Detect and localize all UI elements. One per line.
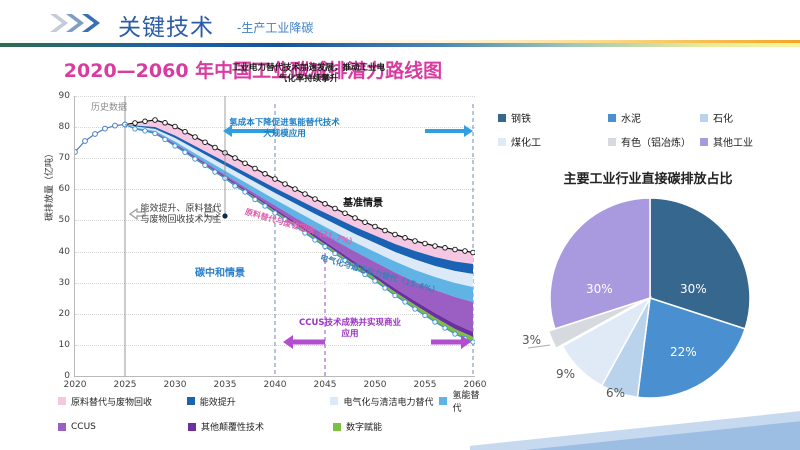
legend-label: 煤化工 [511,134,541,149]
y-tick: 80 [59,122,70,132]
pie-title: 主要工业行业直接碳排放占比 [498,168,798,187]
legend-item-ccus[interactable]: CCUS [58,422,188,432]
y-tick: 30 [59,278,70,288]
legend-label: 钢铁 [511,110,531,125]
chart-plot-area: 90 80 70 60 50 40 30 20 10 0 2020 2025 2… [74,96,475,377]
pie-chart: 30% 22% 6% 9% 3% 30% [528,190,768,405]
legend-item-material[interactable]: 原料替代与废物回收 [58,395,187,408]
legend-swatch-icon [608,114,616,122]
legend-label: 原料替代与废物回收 [71,395,152,408]
pie-value-coalchem: 9% [556,367,575,381]
y-axis-label: 碳排放量（亿吨） [42,149,55,221]
legend-item-digital[interactable]: 数字赋能 [333,420,382,433]
legend-label: 水泥 [621,110,641,125]
legend-swatch-icon [700,114,708,122]
pie-value-nonferrous: 3% [522,333,541,347]
pie-value-petrochem: 6% [606,386,625,400]
pie-value-other: 30% [586,282,613,296]
legend-swatch-icon [187,397,195,405]
page-header: 关键技术 -生产工业降碳 [0,0,800,52]
pie-value-cement: 22% [670,345,697,359]
page-subtitle: -生产工业降碳 [237,19,313,36]
legend-swatch-icon [58,397,66,405]
legend-swatch-icon [330,397,338,405]
legend-swatch-icon [608,138,616,146]
y-tick: 70 [59,153,70,163]
industry-share-panel: 钢铁 水泥 石化 煤化工 有色（铝冶炼） 其他工业 主要工业行业直接碳排放占比 [498,110,798,410]
annotation-neutral-scenario: 碳中和情景 [195,264,245,279]
legend-label: 有色（铝冶炼） [621,134,691,149]
annotation-efficiency: 能效提升、原料替代与废物回收技术为主 [137,204,225,227]
legend-swatch-icon [700,138,708,146]
legend-swatch-icon [188,423,196,431]
y-tick: 50 [59,215,70,225]
y-tick: 20 [59,309,70,319]
pie-legend-item-cement[interactable]: 水泥 [608,110,700,125]
pie-legend-item-steel[interactable]: 钢铁 [498,110,608,125]
pie-legend-item-coalchem[interactable]: 煤化工 [498,134,608,149]
annotation-ccus: CCUS技术成熟并实现商业应用 [295,318,405,339]
legend-item-efficiency[interactable]: 能效提升 [187,395,331,408]
legend-label: 数字赋能 [346,420,382,433]
pie-value-steel: 30% [680,282,707,296]
legend-swatch-icon [439,397,447,405]
legend-swatch-icon [58,423,66,431]
legend-swatch-icon [498,114,506,122]
y-tick: 40 [59,247,70,257]
pie-legend: 钢铁 水泥 石化 煤化工 有色（铝冶炼） 其他工业 [498,110,798,149]
pie-legend-item-other[interactable]: 其他工业 [700,134,753,149]
legend-label: 电气化与清洁电力替代 [343,395,433,408]
page-title: 关键技术 [118,8,214,42]
legend-label: 其他工业 [713,134,753,149]
annotation-baseline-scenario: 基准情景 [343,194,383,209]
legend-swatch-icon [333,423,341,431]
y-tick: 60 [59,184,70,194]
y-tick: 10 [59,340,70,350]
annotation-history: 历史数据 [91,100,127,113]
pie-legend-item-petrochem[interactable]: 石化 [700,110,733,125]
y-tick: 90 [59,91,70,101]
legend-label: 能效提升 [200,395,236,408]
double-chevron-right-icon [50,12,110,34]
legend-swatch-icon [498,138,506,146]
pie-legend-item-nonferrous[interactable]: 有色（铝冶炼） [608,134,700,149]
annotation-electrification: 工业电力替代技术加速发展，推动工业电气化率持续攀升 [231,63,386,84]
annotation-hydrogen: 氢成本下降促进氢能替代技术大规模应用 [227,118,342,139]
footer-decoration [470,400,800,450]
legend-item-disruptive[interactable]: 其他颠覆性技术 [188,420,333,433]
chart-legend: 原料替代与废物回收 能效提升 电气化与清洁电力替代 氢能替代 CCUS 其他颠覆… [58,388,488,439]
header-rule-bottom [0,43,800,47]
legend-label: 石化 [713,110,733,125]
legend-label: CCUS [71,422,96,432]
roadmap-chart-panel: 2020—2060 年中国工业碳减排潜力路线图 碳排放量（亿吨） 90 80 7… [18,56,488,436]
legend-item-electrification[interactable]: 电气化与清洁电力替代 [330,395,439,408]
legend-label: 其他颠覆性技术 [201,420,264,433]
